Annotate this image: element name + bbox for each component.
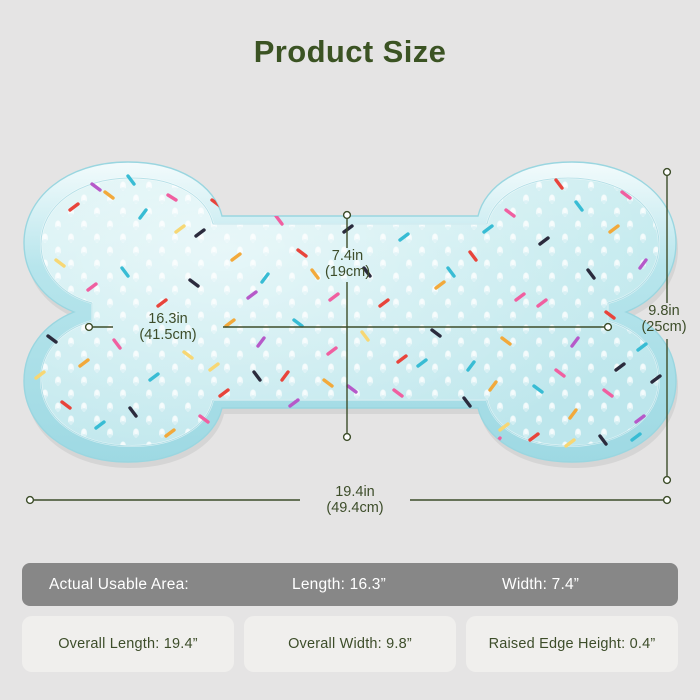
overall-height-cm: (25cm) <box>625 319 700 335</box>
overall-width-inches: 19.4in <box>300 484 410 500</box>
inner-height-inches: 7.4in <box>295 248 400 264</box>
spec-card-overall-length: Overall Length: 19.4” <box>22 616 234 672</box>
product-size-infographic: Product Size <box>0 0 700 700</box>
spec-card-overall-width: Overall Width: 9.8” <box>244 616 456 672</box>
usable-area-label: Actual Usable Area: <box>49 576 292 594</box>
inner-width-cm: (41.5cm) <box>113 327 223 343</box>
product-image <box>0 140 700 530</box>
inner-height-label: 7.4in (19cm) <box>295 248 400 280</box>
inner-height-cm: (19cm) <box>295 264 400 280</box>
usable-area-width: Width: 7.4” <box>502 576 652 594</box>
inner-width-label: 16.3in (41.5cm) <box>113 311 223 343</box>
lick-mat-illustration <box>0 140 700 530</box>
inner-width-inches: 16.3in <box>113 311 223 327</box>
spec-card-row: Overall Length: 19.4” Overall Width: 9.8… <box>22 616 678 672</box>
overall-width-label: 19.4in (49.4cm) <box>300 484 410 516</box>
overall-height-inches: 9.8in <box>625 303 700 319</box>
spec-card-raised-edge-height: Raised Edge Height: 0.4” <box>466 616 678 672</box>
page-title: Product Size <box>0 34 700 70</box>
usable-area-bar: Actual Usable Area: Length: 16.3” Width:… <box>22 563 678 606</box>
overall-height-label: 9.8in (25cm) <box>625 303 700 335</box>
usable-area-length: Length: 16.3” <box>292 576 502 594</box>
overall-width-cm: (49.4cm) <box>300 500 410 516</box>
